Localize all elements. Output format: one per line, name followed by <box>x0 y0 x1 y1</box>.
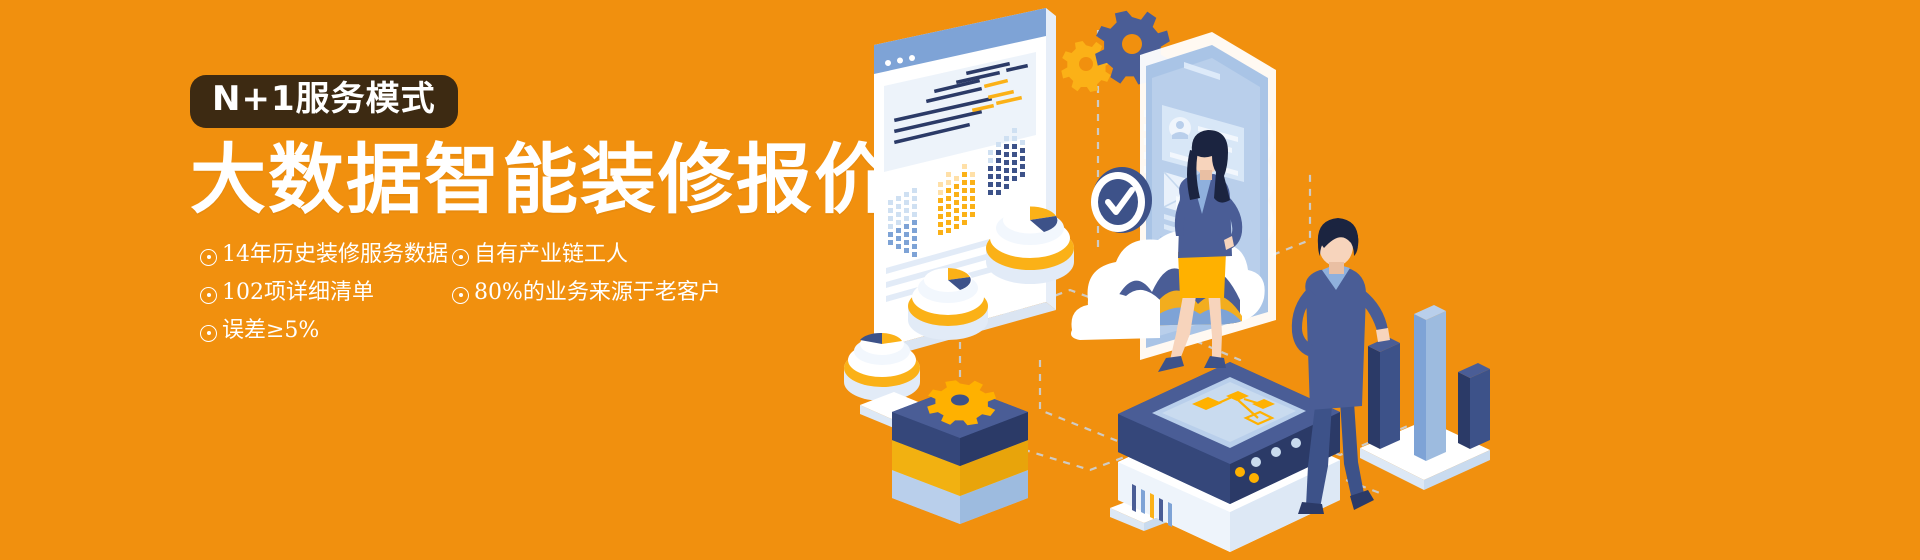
window-dot-icon <box>885 60 891 66</box>
bar <box>1458 363 1490 449</box>
bullet-marker-icon <box>200 249 217 266</box>
bullet-column-left: 14年历史装修服务数据 102项详细清单 误差≥5% <box>200 244 460 358</box>
bullet-marker-icon <box>452 287 469 304</box>
bullet-label: 80%的业务来源于老客户 <box>474 282 721 304</box>
bullet-item: 102项详细清单 <box>200 282 460 304</box>
checkmark-badge <box>1091 167 1152 233</box>
shoe-icon <box>1204 356 1226 368</box>
bullet-item: 80%的业务来源于老客户 <box>452 282 752 304</box>
bullet-column-right: 自有产业链工人 80%的业务来源于老客户 <box>452 244 752 320</box>
shoe-icon <box>1158 356 1184 372</box>
bullet-label: 14年历史装修服务数据 <box>222 244 448 266</box>
bullet-item: 14年历史装修服务数据 <box>200 244 460 266</box>
bullet-label: 102项详细清单 <box>222 282 374 304</box>
bullet-marker-icon <box>200 325 217 342</box>
window-dot-icon <box>909 55 915 61</box>
bullet-label: 自有产业链工人 <box>474 244 628 266</box>
bullet-marker-icon <box>200 287 217 304</box>
window-dot-icon <box>897 58 903 64</box>
service-model-badge: N+1服务模式 <box>190 75 458 128</box>
bar <box>1368 337 1400 449</box>
hero-banner: N+1服务模式 大数据智能装修报价 14年历史装修服务数据 102项详细清单 误… <box>0 0 1920 560</box>
hero-text-block: N+1服务模式 大数据智能装修报价 14年历史装修服务数据 102项详细清单 误… <box>190 75 890 244</box>
bullet-marker-icon <box>452 249 469 266</box>
isometric-illustration <box>840 0 1540 560</box>
bullet-item: 自有产业链工人 <box>452 244 752 266</box>
bar <box>1414 305 1446 461</box>
bullet-label: 误差≥5% <box>222 320 319 342</box>
hero-headline: 大数据智能装修报价 <box>190 142 890 218</box>
server-box <box>1118 362 1340 560</box>
bullet-item: 误差≥5% <box>200 320 460 342</box>
gear-small-amber <box>1061 41 1111 92</box>
